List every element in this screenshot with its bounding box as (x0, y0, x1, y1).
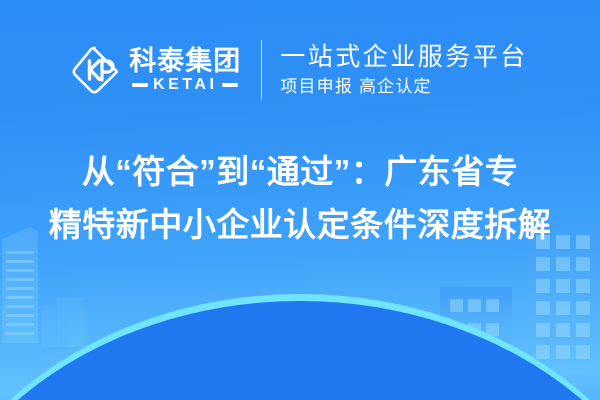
headline-line-1: 从“符合”到“通过”：广东省专 (0, 145, 600, 198)
tagline-block: 一站式企业服务平台 项目申报 高企认定 (280, 42, 528, 99)
brand-name-en-row: KETAI (132, 77, 238, 93)
tagline-sub: 项目申报 高企认定 (280, 76, 528, 98)
brand-logo[interactable]: 科泰集团 KETAI (72, 46, 241, 94)
ketai-diamond-kp-monogram-icon (72, 46, 120, 94)
header-divider (261, 40, 262, 100)
arc-fill (0, 301, 600, 400)
promo-banner: 科泰集团 KETAI 一站式企业服务平台 项目申报 高企认定 从“符合”到“通过… (0, 0, 600, 400)
dash-right-icon (222, 83, 238, 87)
brand-name-en: KETAI (153, 77, 217, 93)
bottom-arc-curve (0, 280, 600, 400)
brand-name-cn: 科泰集团 (129, 47, 241, 75)
dash-left-icon (132, 83, 148, 87)
headline: 从“符合”到“通过”：广东省专 精特新中小企业认定条件深度拆解 (0, 145, 600, 252)
banner-header: 科泰集团 KETAI 一站式企业服务平台 项目申报 高企认定 (0, 0, 600, 140)
headline-line-2: 精特新中小企业认定条件深度拆解 (0, 198, 600, 251)
tagline-main: 一站式企业服务平台 (280, 42, 528, 73)
brand-logo-wordmark: 科泰集团 KETAI (129, 47, 241, 93)
